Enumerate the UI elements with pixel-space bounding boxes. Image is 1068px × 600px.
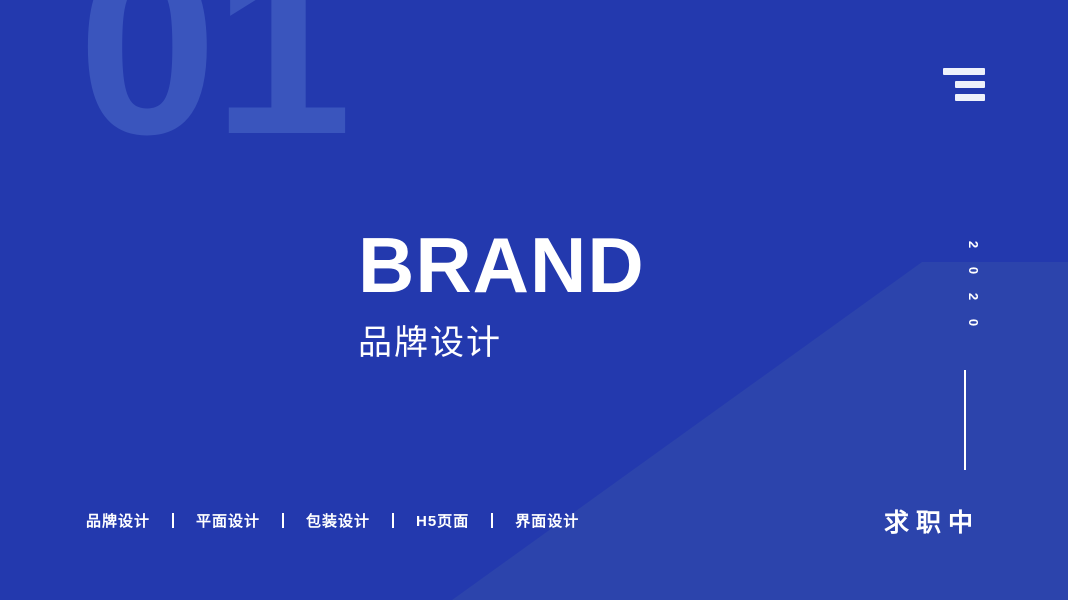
year-digit: 2 — [967, 241, 980, 248]
nav-item-brand-design[interactable]: 品牌设计 — [86, 510, 150, 531]
presentation-slide: 01 BRAND 品牌设计 2 0 2 0 求职中 品牌设计 平面设计 包装设计… — [0, 0, 1068, 600]
nav-item-packaging-design[interactable]: 包装设计 — [306, 510, 370, 531]
menu-bar-top — [943, 68, 985, 75]
page-subtitle: 品牌设计 — [358, 326, 645, 360]
year-label: 2 0 2 0 — [970, 238, 977, 329]
year-digit: 0 — [967, 319, 980, 326]
nav-separator — [282, 513, 284, 528]
section-number: 01 — [78, 0, 348, 172]
page-title: BRAND — [358, 226, 645, 304]
hamburger-menu-icon[interactable] — [943, 68, 985, 102]
nav-item-h5-page[interactable]: H5页面 — [416, 510, 469, 531]
nav-separator — [491, 513, 493, 528]
nav-item-graphic-design[interactable]: 平面设计 — [196, 510, 260, 531]
year-digit: 2 — [967, 293, 980, 300]
bottom-nav: 品牌设计 平面设计 包装设计 H5页面 界面设计 — [86, 510, 579, 531]
nav-item-ui-design[interactable]: 界面设计 — [515, 510, 579, 531]
menu-bar-middle — [955, 81, 985, 88]
year-digit: 0 — [967, 267, 980, 274]
nav-separator — [172, 513, 174, 528]
nav-separator — [392, 513, 394, 528]
title-block: BRAND 品牌设计 — [358, 226, 645, 360]
vertical-divider — [964, 370, 966, 470]
status-badge: 求职中 — [884, 503, 980, 539]
menu-bar-bottom — [955, 94, 985, 101]
